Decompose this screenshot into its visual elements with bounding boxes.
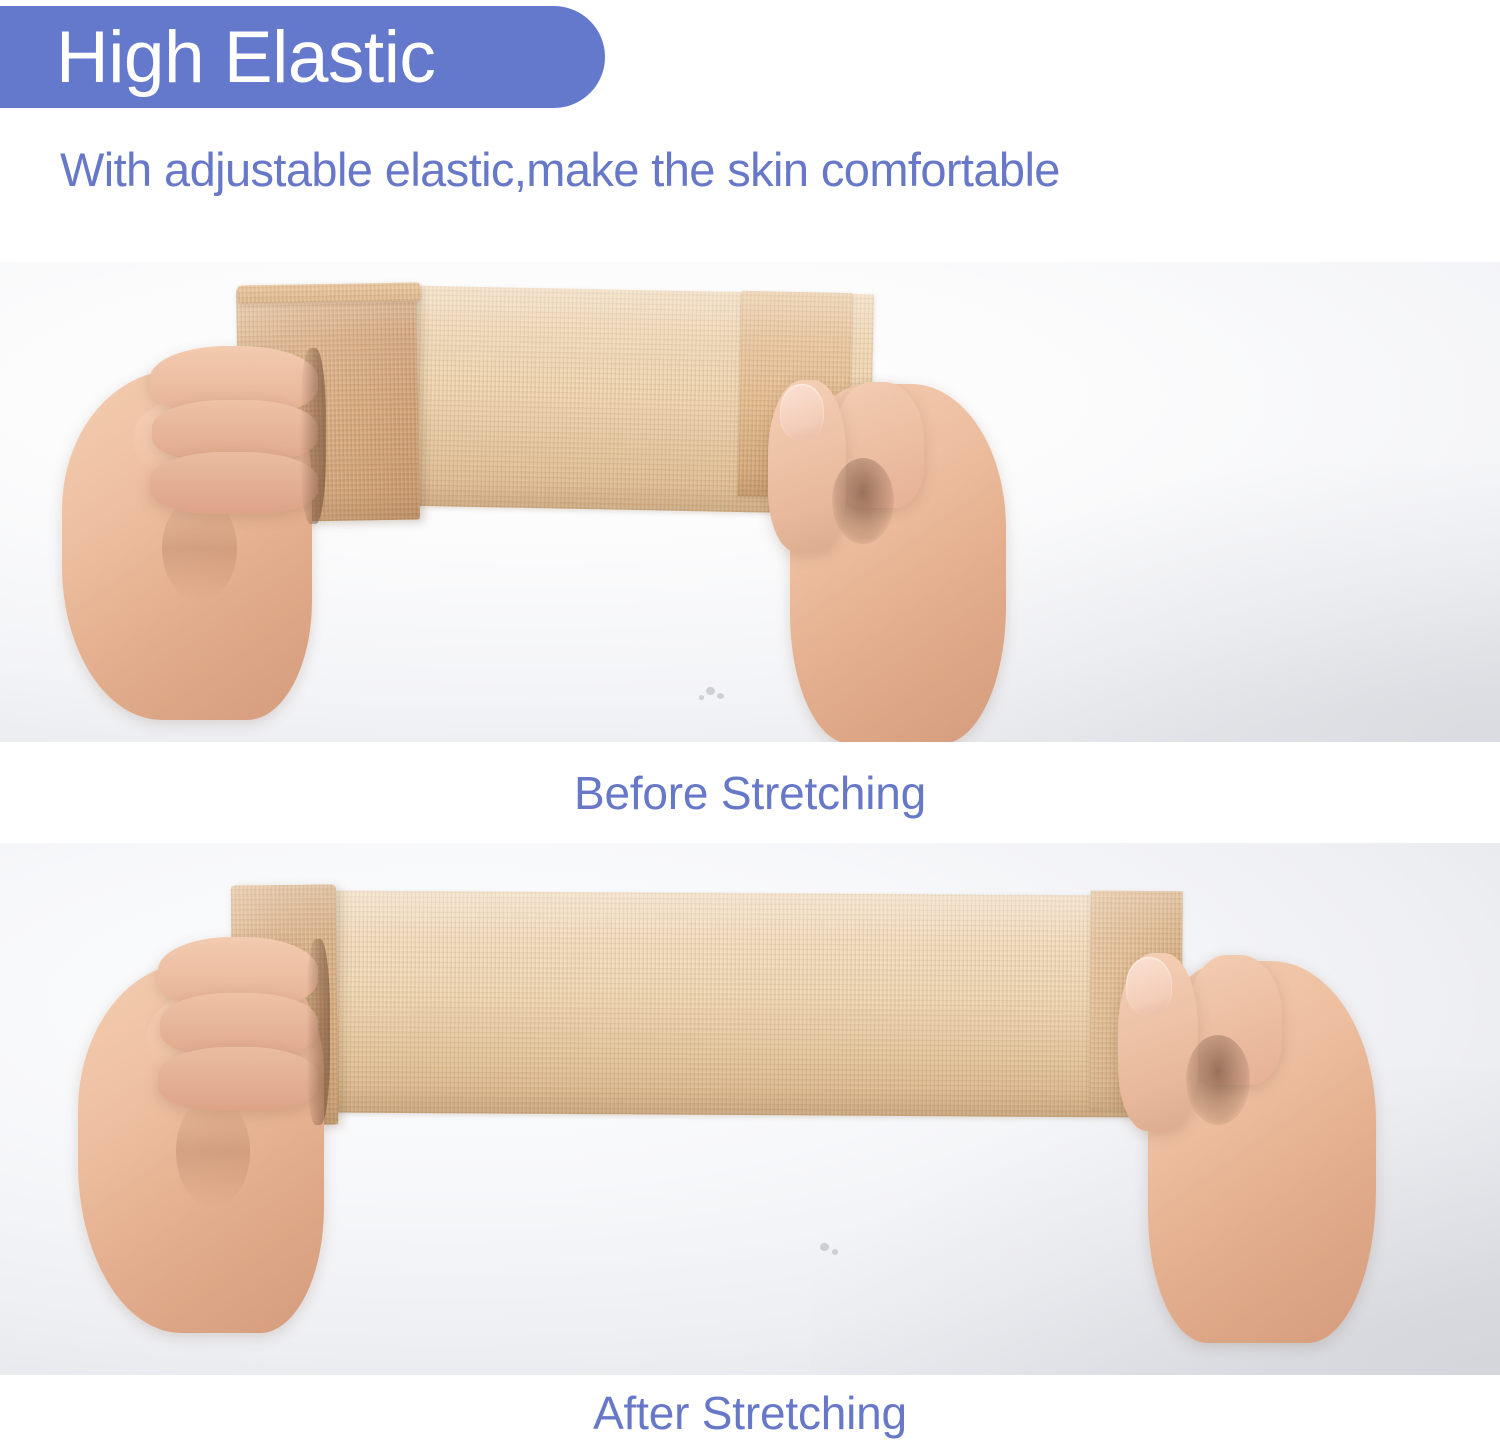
photo-before-stretching xyxy=(0,262,1500,742)
bandage-sheen xyxy=(297,890,1178,1117)
title-badge: High Elastic xyxy=(0,6,605,108)
bandage-stretched-section xyxy=(297,890,1178,1117)
right-thumb-nail xyxy=(1126,957,1172,1015)
bandage-roll-top-edge xyxy=(238,282,420,303)
hand-crease xyxy=(176,1096,250,1207)
left-hand-finger-3 xyxy=(150,452,318,514)
infographic-page: High Elastic With adjustable elastic,mak… xyxy=(0,0,1500,1451)
right-hand-pinch-shadow xyxy=(1186,1035,1250,1125)
photo-after-stretching xyxy=(0,843,1500,1375)
left-hand-finger-3 xyxy=(158,1047,318,1111)
left-hand-grip-shadow xyxy=(306,939,330,1125)
caption-text: Before Stretching xyxy=(574,766,926,820)
table-speck xyxy=(706,687,715,695)
right-thumb-nail xyxy=(780,384,824,440)
left-hand-grip-shadow xyxy=(300,348,326,524)
table-speck xyxy=(820,1243,829,1251)
header: High Elastic With adjustable elastic,mak… xyxy=(0,0,1500,262)
caption-text: After Stretching xyxy=(593,1386,907,1440)
right-hand-pinch-shadow xyxy=(832,458,894,544)
subtitle: With adjustable elastic,make the skin co… xyxy=(60,142,1060,197)
table-speck xyxy=(717,693,724,699)
bandage-weave-texture xyxy=(238,282,420,303)
caption-before-stretching: Before Stretching xyxy=(0,742,1500,843)
page-title: High Elastic xyxy=(0,21,435,94)
table-speck xyxy=(832,1249,838,1255)
table-speck xyxy=(699,695,704,700)
caption-after-stretching: After Stretching xyxy=(0,1375,1500,1451)
